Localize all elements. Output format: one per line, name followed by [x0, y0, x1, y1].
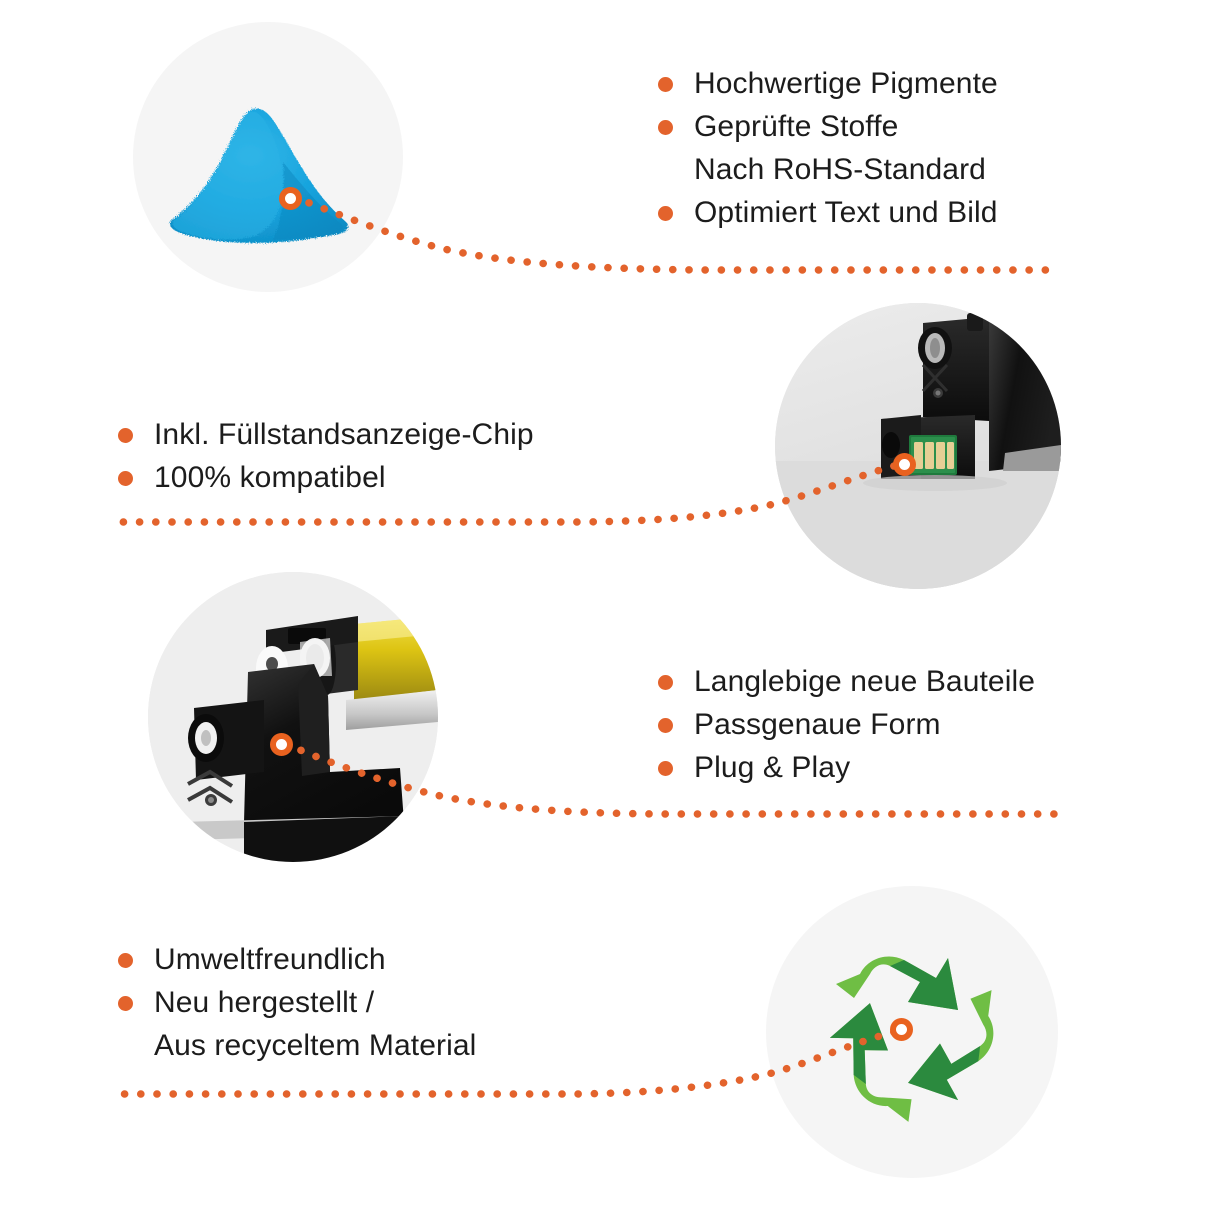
bullet-icon — [658, 718, 673, 733]
feature-text: Umweltfreundlich — [154, 943, 386, 977]
list-item: Geprüfte Stoffe — [658, 110, 998, 144]
list-item: Plug & Play — [658, 751, 1035, 785]
callout-marker-pigments — [279, 187, 302, 210]
cartridge-chip-photo — [775, 303, 1061, 589]
feature-text: Plug & Play — [694, 751, 850, 785]
feature-text: Inkl. Füllstandsanzeige-Chip — [154, 418, 534, 452]
feature-text: Nach RoHS-Standard — [694, 153, 986, 187]
list-item: Langlebige neue Bauteile — [658, 665, 1035, 699]
list-item: Neu hergestellt / — [118, 986, 476, 1020]
toner-powder-photo — [133, 22, 403, 292]
bullet-spacer — [658, 163, 673, 178]
list-item: Optimiert Text und Bild — [658, 196, 998, 230]
feature-text-parts: Langlebige neue Bauteile Passgenaue Form… — [658, 665, 1035, 794]
list-item: Nach RoHS-Standard — [658, 153, 998, 187]
feature-text-chip: Inkl. Füllstandsanzeige-Chip 100% kompat… — [118, 418, 534, 504]
cartridge-roller-photo — [148, 572, 438, 862]
bullet-icon — [658, 675, 673, 690]
list-item: Inkl. Füllstandsanzeige-Chip — [118, 418, 534, 452]
list-item: Passgenaue Form — [658, 708, 1035, 742]
infographic-canvas: Hochwertige Pigmente Geprüfte Stoffe Nac… — [0, 0, 1214, 1214]
feature-text: 100% kompatibel — [154, 461, 386, 495]
bullet-icon — [658, 120, 673, 135]
bullet-icon — [658, 206, 673, 221]
list-item: Hochwertige Pigmente — [658, 67, 998, 101]
media-circle-pigments — [133, 22, 403, 292]
bullet-icon — [658, 761, 673, 776]
feature-text: Optimiert Text und Bild — [694, 196, 998, 230]
media-circle-parts — [148, 572, 438, 862]
list-item: Aus recyceltem Material — [118, 1029, 476, 1063]
list-item: 100% kompatibel — [118, 461, 534, 495]
callout-marker-chip — [893, 453, 916, 476]
media-circle-chip — [775, 303, 1061, 589]
bullet-icon — [118, 953, 133, 968]
feature-text: Aus recyceltem Material — [154, 1029, 476, 1063]
feature-text: Hochwertige Pigmente — [694, 67, 998, 101]
bullet-icon — [118, 428, 133, 443]
bullet-icon — [118, 471, 133, 486]
feature-text: Langlebige neue Bauteile — [694, 665, 1035, 699]
feature-text-eco: Umweltfreundlich Neu hergestellt / Aus r… — [118, 943, 476, 1072]
feature-text: Neu hergestellt / — [154, 986, 374, 1020]
bullet-icon — [658, 77, 673, 92]
feature-text: Geprüfte Stoffe — [694, 110, 898, 144]
bullet-spacer — [118, 1039, 133, 1054]
list-item: Umweltfreundlich — [118, 943, 476, 977]
feature-text-pigments: Hochwertige Pigmente Geprüfte Stoffe Nac… — [658, 67, 998, 239]
callout-marker-parts — [270, 733, 293, 756]
feature-text: Passgenaue Form — [694, 708, 941, 742]
bullet-icon — [118, 996, 133, 1011]
callout-marker-eco — [890, 1018, 913, 1041]
